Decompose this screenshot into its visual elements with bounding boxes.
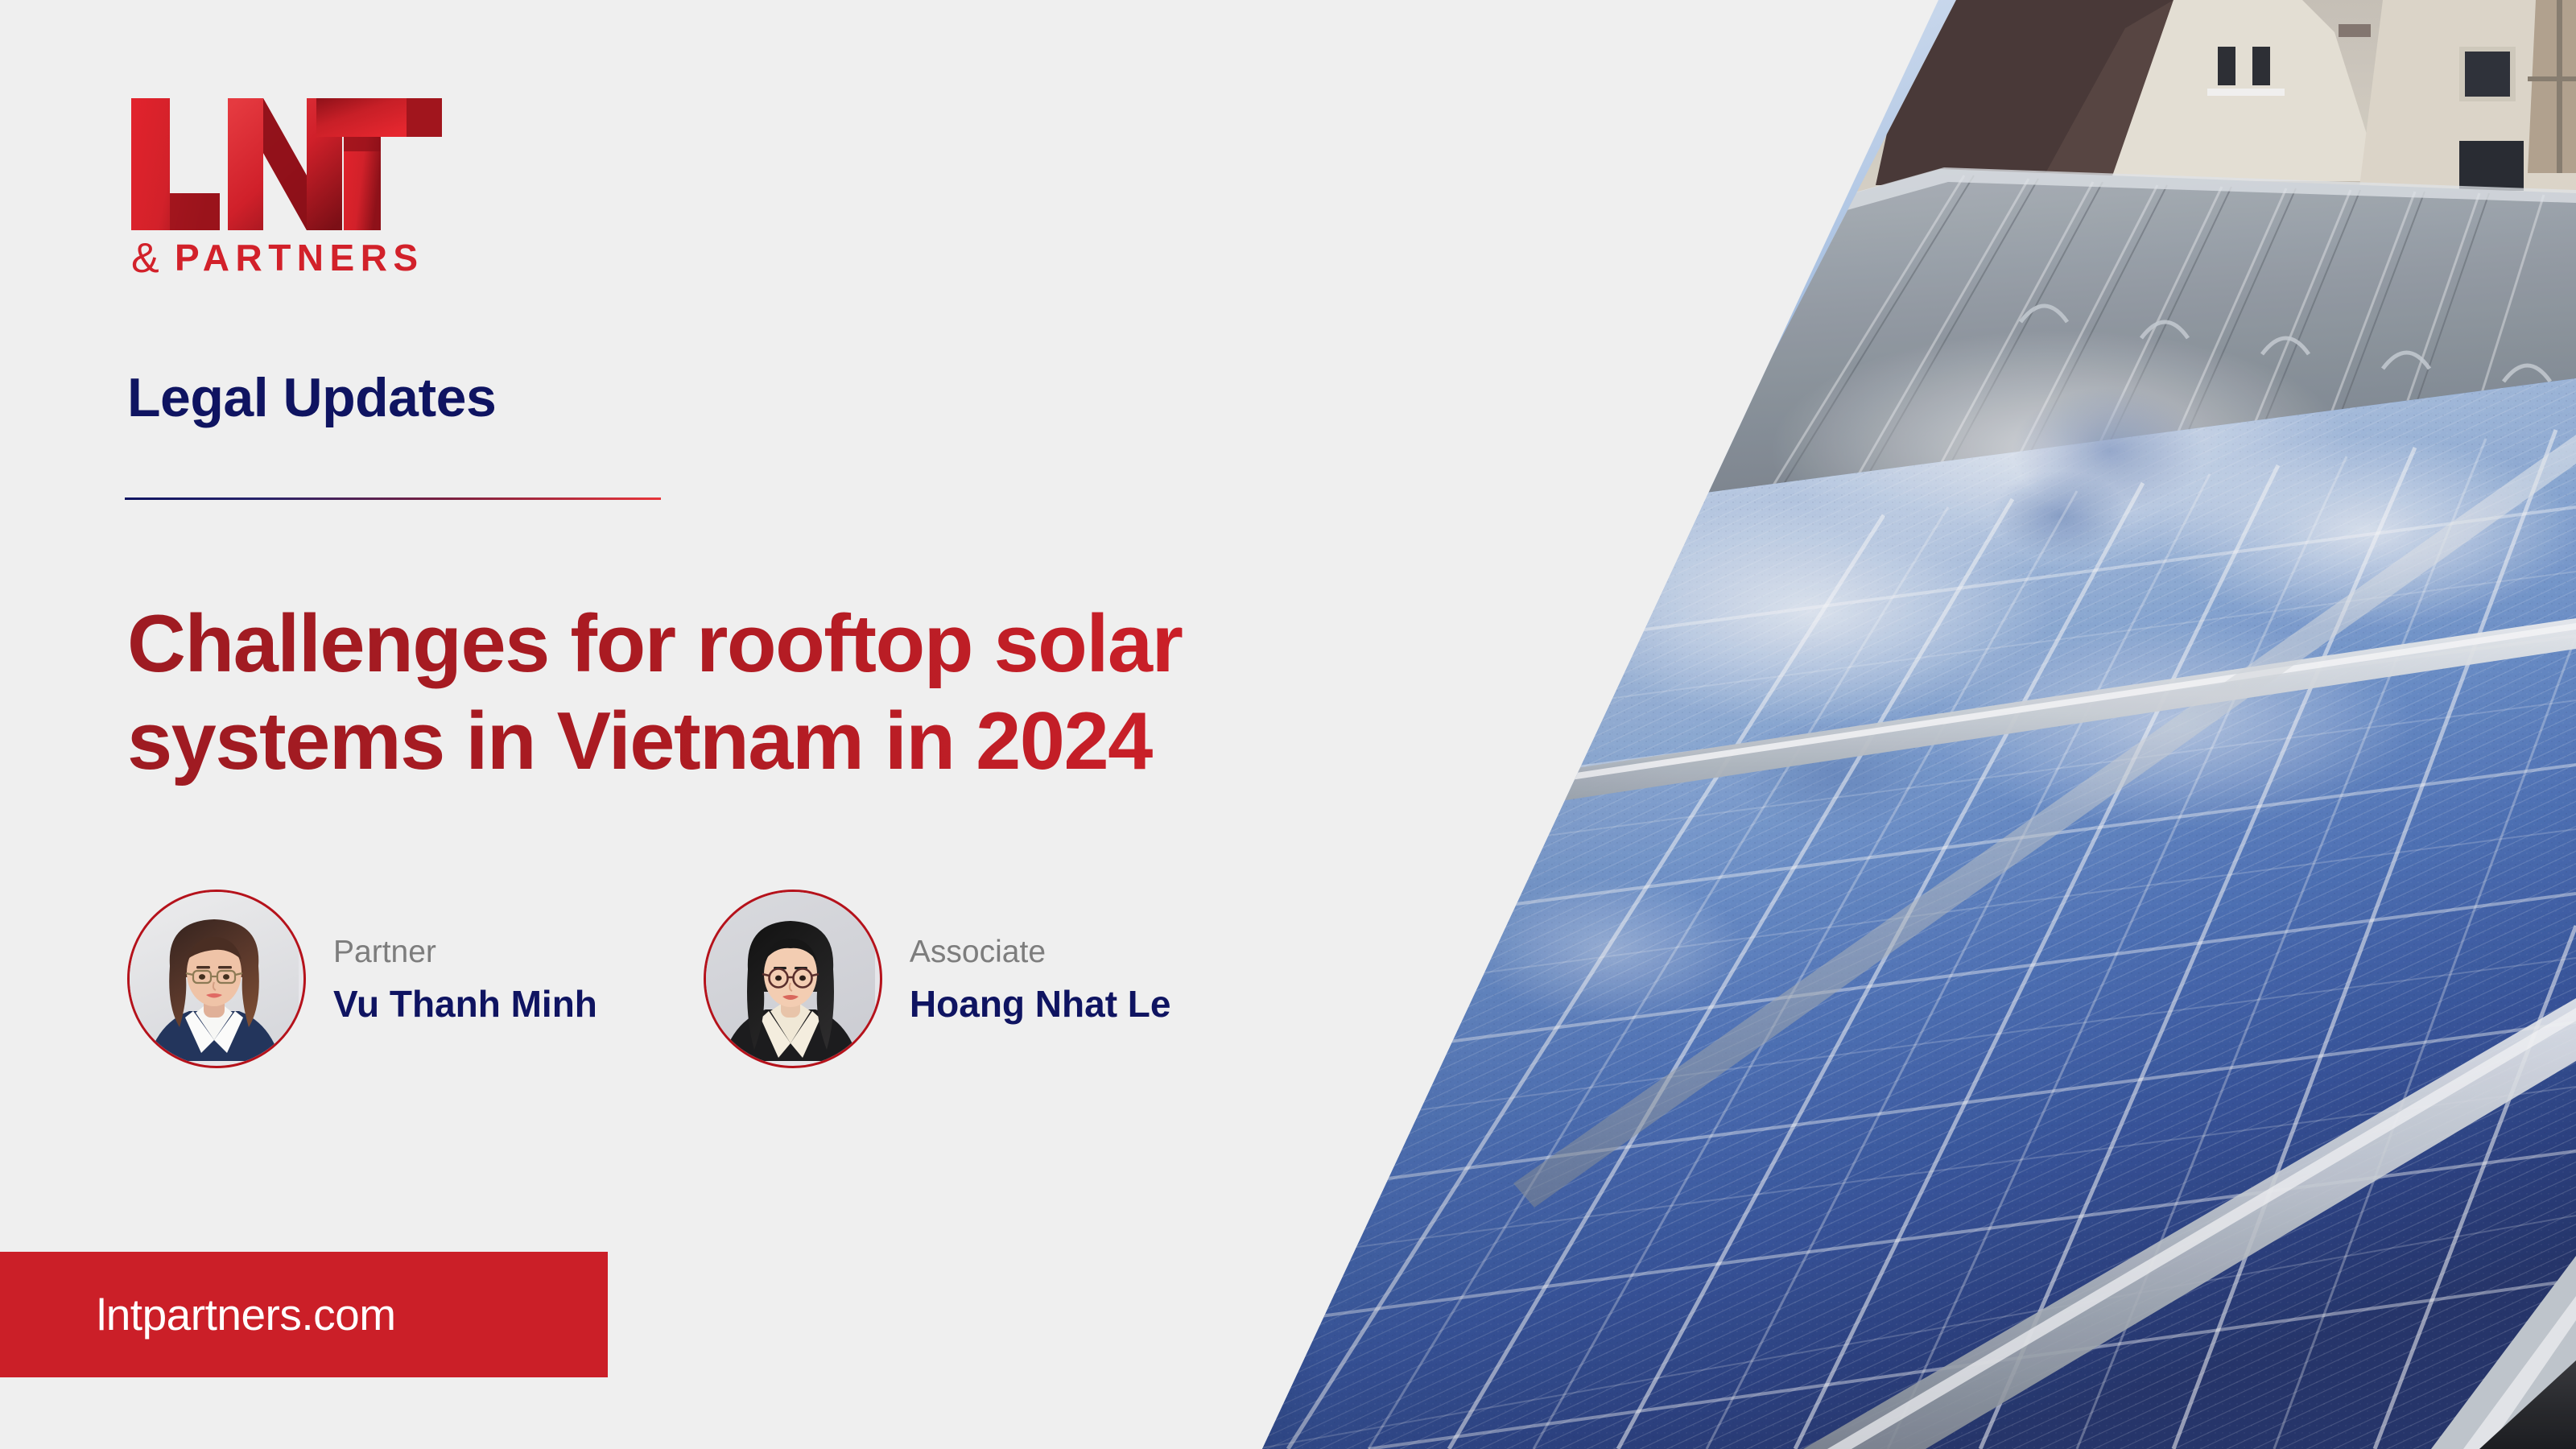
lnt-partners-logo: & PARTNERS — [125, 80, 503, 282]
author-name: Hoang Nhat Le — [910, 985, 1171, 1022]
author-role: Partner — [333, 936, 597, 968]
legal-update-slide: & PARTNERS Legal Updates Challenges for … — [0, 0, 2576, 1449]
author-role: Associate — [910, 936, 1171, 968]
page-title-line-1: Challenges for rooftop solar — [127, 596, 1576, 693]
website-banner[interactable]: lntpartners.com — [0, 1252, 608, 1377]
author-name: Vu Thanh Minh — [333, 985, 597, 1022]
avatar-vu-thanh-minh — [127, 890, 306, 1068]
website-url[interactable]: lntpartners.com — [97, 1289, 396, 1340]
author-card-associate: Associate Hoang Nhat Le — [704, 890, 1171, 1068]
author-text-associate: Associate Hoang Nhat Le — [910, 936, 1171, 1022]
author-list: Partner Vu Thanh Minh — [127, 890, 1170, 1068]
author-text-partner: Partner Vu Thanh Minh — [333, 936, 597, 1022]
avatar-hoang-nhat-le — [704, 890, 882, 1068]
author-card-partner: Partner Vu Thanh Minh — [127, 890, 597, 1068]
page-title-line-2: systems in Vietnam in 2024 — [127, 693, 1576, 791]
svg-text:PARTNERS: PARTNERS — [175, 237, 424, 279]
page-kicker: Legal Updates — [127, 366, 496, 429]
title-divider — [125, 497, 661, 500]
page-title: Challenges for rooftop solar systems in … — [127, 596, 1576, 791]
svg-text:&: & — [131, 235, 159, 282]
